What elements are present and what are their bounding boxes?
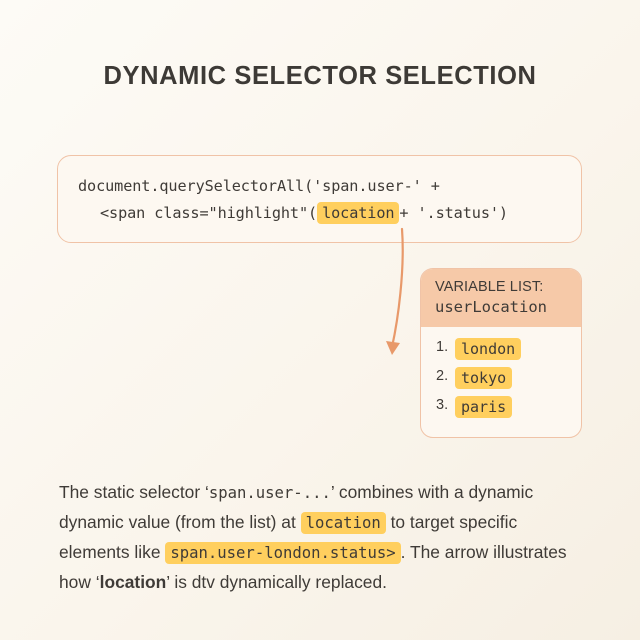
list-item[interactable]: 1.london: [455, 338, 581, 360]
caption-part-1: The static selector ‘: [59, 482, 209, 502]
code-snippet-card: document.querySelectorAll('span.user-' +…: [57, 155, 582, 243]
caption-code-static-selector: span.user-...: [209, 484, 331, 502]
caption-part-3: dynamic value (from the list) at: [59, 512, 301, 532]
caption-bold-location: location: [100, 572, 167, 592]
list-item-value[interactable]: paris: [455, 396, 512, 418]
page-title: DYNAMIC SELECTOR SELECTION: [0, 62, 640, 91]
variable-list-label: VARIABLE LIST:: [435, 279, 567, 295]
code-line-2: <span class="highlight"(location+ '.stat…: [78, 200, 561, 227]
variable-list: 1.london 2.tokyo 3.paris: [421, 327, 581, 418]
poster-canvas: DYNAMIC SELECTOR SELECTION document.quer…: [0, 0, 640, 640]
variable-list-name: userLocation: [435, 298, 567, 316]
caption-paragraph: The static selector ‘span.user-...’ comb…: [59, 478, 587, 597]
variable-list-header: VARIABLE LIST: userLocation: [421, 269, 581, 327]
code-line-1-text: document.querySelectorAll('span.user-' +: [78, 177, 440, 195]
caption-part-2: ’ combines with a dynamic: [331, 482, 533, 502]
list-item[interactable]: 2.tokyo: [455, 367, 581, 389]
code-line-1: document.querySelectorAll('span.user-' +: [78, 173, 561, 200]
caption-part-5: elements like: [59, 542, 165, 562]
caption-part-4: to target specific: [386, 512, 517, 532]
code-line-2-prefix: <span class="highlight"(: [100, 204, 317, 222]
code-line-2-suffix: + '.status'): [399, 204, 508, 222]
list-item[interactable]: 3.paris: [455, 396, 581, 418]
caption-part-8: ’ is dtv dynamically replaced.: [166, 572, 387, 592]
caption-code-example-selector: span.user-london.status>: [165, 542, 400, 564]
variable-list-card: VARIABLE LIST: userLocation 1.london 2.t…: [420, 268, 582, 438]
list-item-number: 1.: [436, 339, 448, 355]
list-item-number: 3.: [436, 397, 448, 413]
list-item-value[interactable]: london: [455, 338, 521, 360]
caption-part-6: . The arrow: [401, 542, 489, 562]
code-location-token[interactable]: location: [317, 202, 399, 224]
list-item-value[interactable]: tokyo: [455, 367, 512, 389]
list-item-number: 2.: [436, 368, 448, 384]
caption-code-location: location: [301, 512, 386, 534]
